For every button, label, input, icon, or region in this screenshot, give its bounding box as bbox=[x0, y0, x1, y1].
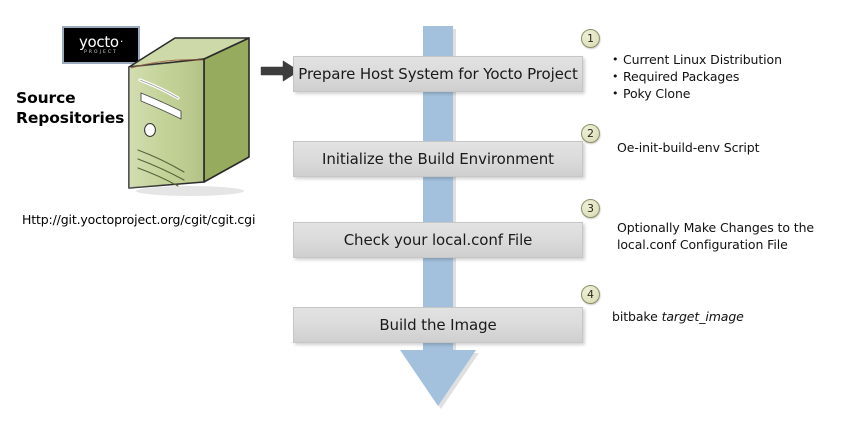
step-badge-2: 2 bbox=[581, 124, 600, 143]
command-argument: target_image bbox=[662, 309, 744, 324]
step-badge-number: 2 bbox=[587, 127, 594, 140]
annotation-bullet-list: Current Linux Distribution Required Pack… bbox=[612, 51, 782, 102]
step-box-initialize-build-environment[interactable]: Initialize the Build Environment bbox=[293, 141, 583, 177]
source-repositories-label: Source Repositories bbox=[16, 88, 124, 128]
command-name: bitbake bbox=[612, 309, 658, 324]
step-badge-number: 1 bbox=[587, 32, 594, 45]
annotation-step-3: Optionally Make Changes to the local.con… bbox=[617, 219, 814, 253]
step-badge-4: 4 bbox=[581, 285, 600, 304]
step-badge-1: 1 bbox=[581, 29, 600, 48]
step-box-label: Initialize the Build Environment bbox=[322, 150, 554, 168]
annotation-step-4: bitbake target_image bbox=[612, 308, 744, 325]
step-badge-3: 3 bbox=[581, 199, 600, 218]
annotation-bullet-item: Current Linux Distribution bbox=[612, 51, 782, 68]
annotation-line: local.conf Configuration File bbox=[617, 236, 814, 253]
step-box-build-the-image[interactable]: Build the Image bbox=[293, 307, 583, 343]
step-box-check-local-conf[interactable]: Check your local.conf File bbox=[293, 222, 583, 258]
logo-subtitle: PROJECT bbox=[84, 51, 118, 55]
source-label-line-2: Repositories bbox=[16, 108, 124, 128]
step-box-prepare-host-system[interactable]: Prepare Host System for Yocto Project bbox=[293, 56, 583, 92]
step-badge-number: 4 bbox=[587, 288, 594, 301]
source-repository-url: Http://git.yoctoproject.org/cgit/cgit.cg… bbox=[22, 212, 255, 227]
server-tower-icon bbox=[118, 28, 258, 198]
step-box-label: Prepare Host System for Yocto Project bbox=[298, 65, 577, 83]
annotation-command: bitbake target_image bbox=[612, 308, 744, 325]
annotation-bullet-item: Poky Clone bbox=[612, 85, 782, 102]
annotation-bullet-item: Required Packages bbox=[612, 68, 782, 85]
annotation-line: Oe-init-build-env Script bbox=[617, 139, 759, 156]
annotation-step-2: Oe-init-build-env Script bbox=[617, 139, 759, 156]
annotation-step-1: Current Linux Distribution Required Pack… bbox=[612, 51, 782, 102]
logo-wordmark: yocto· bbox=[79, 35, 123, 50]
source-label-line-1: Source bbox=[16, 88, 124, 108]
step-badge-number: 3 bbox=[587, 202, 594, 215]
diagram-canvas: yocto· PROJECT Source Repositories bbox=[0, 0, 842, 440]
annotation-line: Optionally Make Changes to the bbox=[617, 219, 814, 236]
step-box-label: Build the Image bbox=[379, 316, 496, 334]
step-box-label: Check your local.conf File bbox=[344, 231, 533, 249]
